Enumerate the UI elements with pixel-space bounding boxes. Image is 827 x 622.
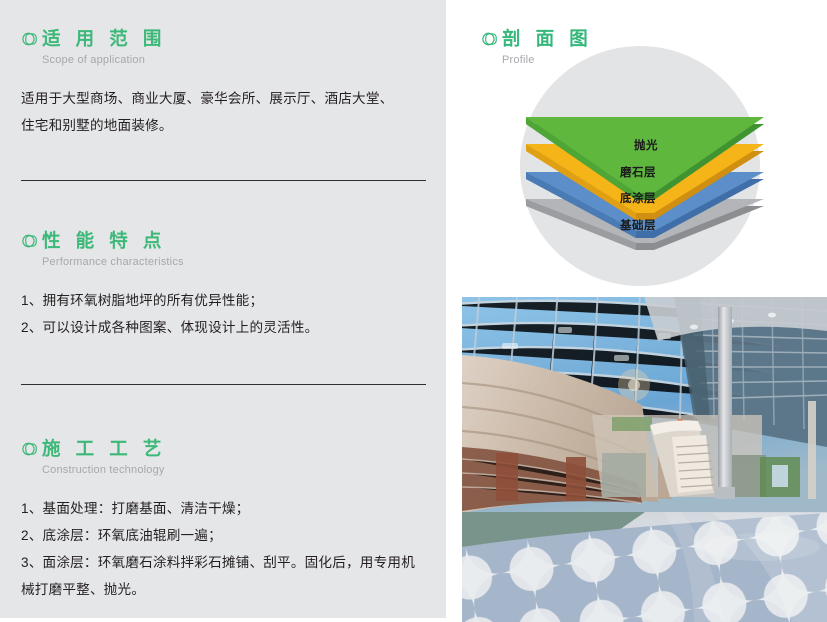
layer-label-primer: 底涂层 [620,193,656,206]
section-construction-technology: 施 工 工 艺 Construction technology 1、基面处理：打… [21,437,426,603]
section-performance-characteristics: 性 能 特 点 Performance characteristics 1、拥有… [21,229,426,341]
lobby-photo-illustration [462,297,827,622]
left-info-panel: 适 用 范 围 Scope of application 适用于大型商场、商业大… [0,0,446,618]
section-title-en: Scope of application [42,53,426,68]
section-title-cn: 适 用 范 围 [42,28,166,50]
section-body: 1、拥有环氧树脂地坪的所有优异性能； 2、可以设计成各种图案、体现设计上的灵活性… [21,287,426,341]
section-title-cn: 施 工 工 艺 [42,438,166,460]
product-spec-page: 适 用 范 围 Scope of application 适用于大型商场、商业大… [0,0,827,622]
body-line: 2、底涂层：环氧底油辊刷一遍； [21,522,426,549]
body-line: 1、拥有环氧树脂地坪的所有优异性能； [21,287,426,314]
section-header: 施 工 工 艺 [21,437,426,461]
body-line: 适用于大型商场、商业大厦、豪华会所、展示厅、酒店大堂、 [21,85,426,112]
double-ring-mark-icon [21,232,39,250]
body-line: 2、可以设计成各种图案、体现设计上的灵活性。 [21,314,426,341]
section-body: 适用于大型商场、商业大厦、豪华会所、展示厅、酒店大堂、 住宅和别墅的地面装修。 [21,85,426,139]
layer-label-base: 基础层 [620,220,656,233]
layer-label-terrazzo: 磨石层 [620,167,656,180]
layer-label-polish: 抛光 [634,140,658,153]
section-header: 性 能 特 点 [21,229,426,253]
section-body: 1、基面处理：打磨基面、清洁干燥； 2、底涂层：环氧底油辊刷一遍； 3、面涂层：… [21,495,426,603]
section-title-cn: 性 能 特 点 [42,230,166,252]
layer-stack-svg [510,110,780,270]
terrazzo-lobby-atrium-photo [462,297,827,622]
section-divider [21,180,426,181]
section-scope-of-application: 适 用 范 围 Scope of application 适用于大型商场、商业大… [21,27,426,139]
double-ring-mark-icon [21,440,39,458]
layer-stack-diagram: 抛光 磨石层 底涂层 基础层 [510,110,780,270]
profile-diagram-area: 剖 面 图 Profile [462,0,827,290]
section-title-en: Construction technology [42,463,426,478]
profile-header-row: 剖 面 图 [481,27,593,51]
section-divider [21,384,426,385]
double-ring-mark-icon [481,30,499,48]
double-ring-mark-icon [21,30,39,48]
profile-header: 剖 面 图 Profile [481,27,593,68]
section-header: 适 用 范 围 [21,27,426,51]
body-line: 1、基面处理：打磨基面、清洁干燥； [21,495,426,522]
profile-title-cn: 剖 面 图 [502,28,593,50]
body-line: 住宅和别墅的地面装修。 [21,112,426,139]
body-line: 3、面涂层：环氧磨石涂料拌彩石摊铺、刮平。固化后，用专用机械打磨平整、抛光。 [21,549,426,603]
section-title-en: Performance characteristics [42,255,426,270]
